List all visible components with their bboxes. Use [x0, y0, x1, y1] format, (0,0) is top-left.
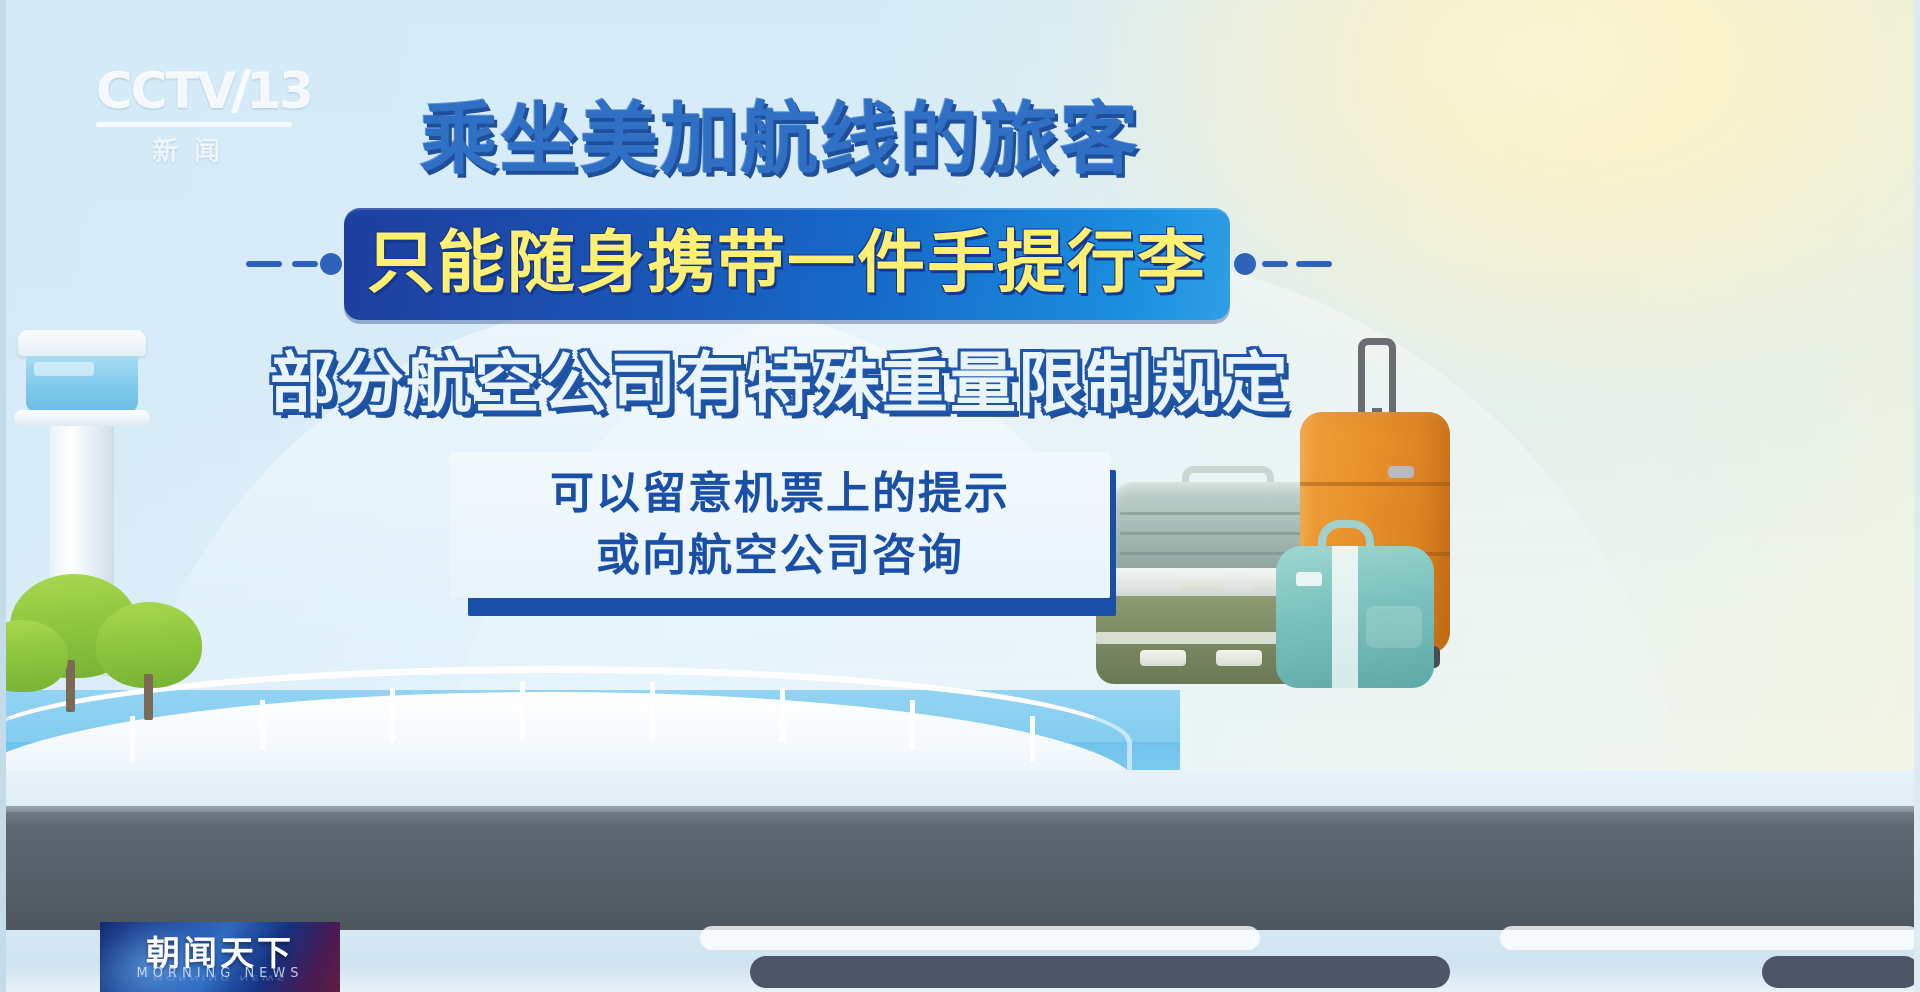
channel-logo-number: 13 [246, 62, 312, 120]
ticker-bar [1500, 926, 1920, 950]
ticker-bar [1762, 956, 1920, 988]
channel-logo-wordmark: CCTV 13 [96, 62, 316, 120]
broadcast-screen: 乘坐美加航线的旅客 只能随身携带一件手提行李 部分航空公司有特殊重量限制规定 可… [0, 0, 1920, 992]
tower-roof [18, 330, 146, 356]
bridge-post [390, 688, 395, 742]
tree-trunk [66, 660, 75, 712]
duffel-pocket [1366, 606, 1422, 648]
suitcase-zipper-pull [1388, 466, 1414, 478]
bridge-post [260, 700, 265, 750]
duffel-strap [1332, 546, 1358, 688]
bridge-post [130, 716, 135, 762]
tower-lip [14, 410, 150, 426]
hardcase-latch [1216, 650, 1262, 666]
duffel-tag [1296, 572, 1322, 586]
screen-edge-left [0, 0, 6, 992]
hardcase-latch [1178, 574, 1224, 590]
road-surface [0, 812, 1920, 932]
suitcase-telescopic-handle [1358, 338, 1396, 416]
bridge-post [1030, 716, 1035, 762]
hardcase-latch [1140, 650, 1186, 666]
bridge-post [780, 688, 785, 742]
channel-logo-sublabel: 新闻 [96, 131, 292, 168]
program-title-en-reflection: MORNING NEWS [100, 974, 340, 982]
bridge-post [910, 700, 915, 750]
channel-logo-underline [96, 122, 292, 127]
ticker-bar [750, 956, 1450, 988]
channel-logo: CCTV 13 新闻 [96, 62, 316, 162]
tree-trunk [144, 674, 153, 720]
bridge-post [520, 682, 525, 738]
channel-logo-name: CCTV [96, 62, 234, 120]
program-bug: 朝闻天下 MORNING NEWS MORNING NEWS [100, 922, 340, 992]
suitcase-seam [1300, 482, 1450, 486]
ticker-bar [700, 926, 1260, 950]
bridge-post [650, 682, 655, 738]
tower-glass-highlight [34, 362, 94, 376]
screen-edge-right [1914, 0, 1920, 992]
